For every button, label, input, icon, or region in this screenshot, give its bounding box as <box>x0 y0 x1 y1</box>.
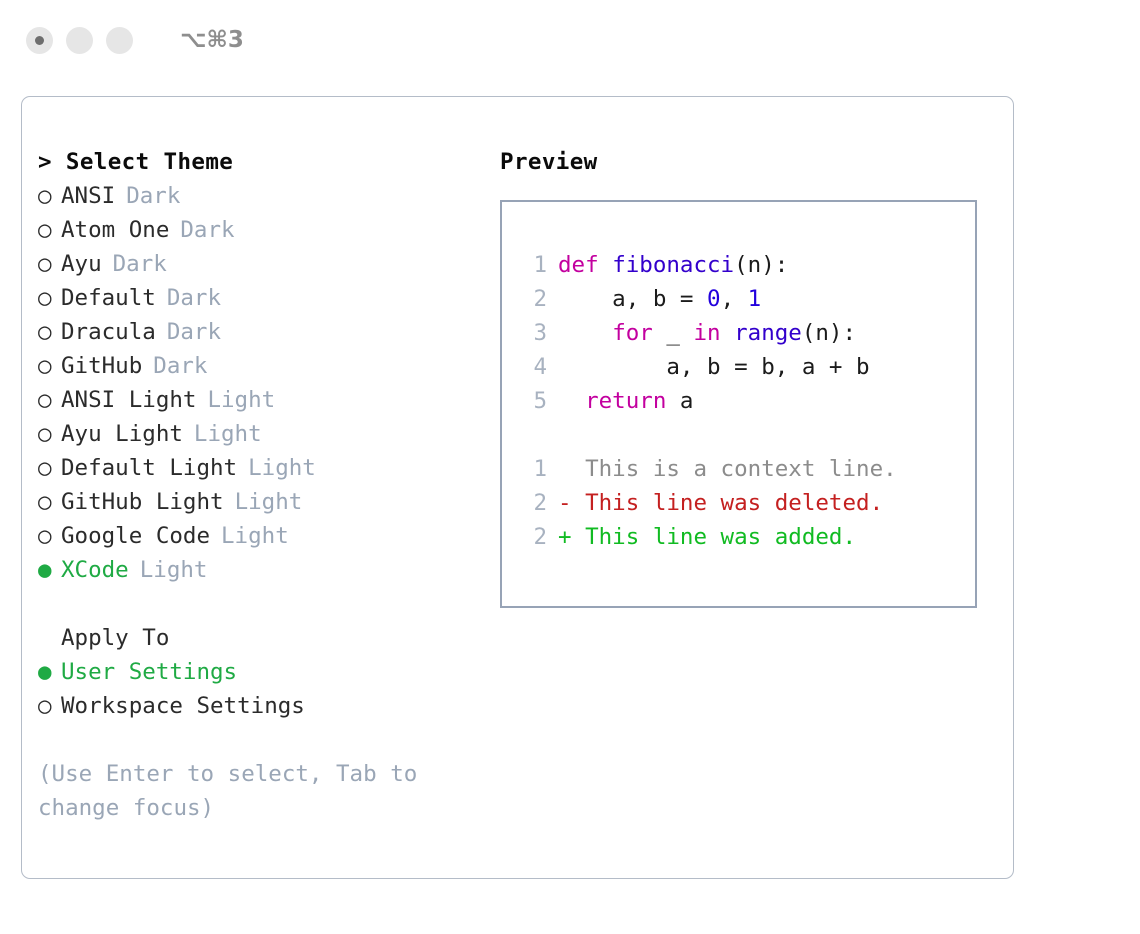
theme-item-ayu[interactable]: ○AyuDark <box>38 247 478 281</box>
code-diff-separator <box>502 418 975 452</box>
diff-line-text: This line was added. <box>585 524 856 550</box>
code-line-number: 3 <box>502 316 547 350</box>
code-line: 3 for _ in range(n): <box>502 316 975 350</box>
code-line-number: 5 <box>502 384 547 418</box>
radio-unselected-icon: ○ <box>38 213 61 247</box>
diff-line-ctx: 1 This is a context line. <box>502 452 975 486</box>
theme-item-variant: Dark <box>167 285 221 311</box>
code-token-kw: in <box>693 320 720 346</box>
code-line: 4 a, b = b, a + b <box>502 350 975 384</box>
radio-unselected-icon: ○ <box>38 281 61 315</box>
theme-item-label: XCode <box>61 557 129 583</box>
theme-item-default[interactable]: ○DefaultDark <box>38 281 478 315</box>
theme-item-github[interactable]: ○GitHubDark <box>38 349 478 383</box>
main-panel: > Select Theme ○ANSIDark○Atom OneDark○Ay… <box>21 96 1014 879</box>
window-dot-inner <box>35 36 44 45</box>
apply-to-list: ●User Settings○Workspace Settings <box>38 655 478 723</box>
code-line: 1def fibonacci(n): <box>502 248 975 282</box>
theme-item-variant: Light <box>140 557 208 583</box>
code-token-pl: (n): <box>802 320 856 346</box>
apply-to-header: Apply To <box>38 621 478 655</box>
radio-unselected-icon: ○ <box>38 451 61 485</box>
diff-line-text: This is a context line. <box>585 456 897 482</box>
code-token-pl: a, b = b, a + b <box>558 354 870 380</box>
code-line: 2 a, b = 0, 1 <box>502 282 975 316</box>
app-window: ⌥⌘3 > Select Theme ○ANSIDark○Atom OneDar… <box>0 0 1140 934</box>
code-line-number: 2 <box>502 282 547 316</box>
code-token-pl: , <box>721 286 748 312</box>
radio-unselected-icon: ○ <box>38 417 61 451</box>
code-token-pl: _ <box>653 320 694 346</box>
theme-item-label: Google Code <box>61 523 210 549</box>
code-line-number: 1 <box>502 248 547 282</box>
list-spacer <box>38 587 478 621</box>
code-token-fn: fibonacci <box>612 252 734 278</box>
theme-item-label: GitHub <box>61 353 142 379</box>
apply-to-item-workspace-settings[interactable]: ○Workspace Settings <box>38 689 478 723</box>
radio-unselected-icon: ○ <box>38 689 61 723</box>
radio-unselected-icon: ○ <box>38 519 61 553</box>
theme-item-variant: Light <box>207 387 275 413</box>
code-token-pl <box>558 388 585 414</box>
radio-selected-icon: ● <box>38 553 61 587</box>
theme-item-variant: Dark <box>180 217 234 243</box>
diff-line-text: This line was deleted. <box>585 490 883 516</box>
radio-unselected-icon: ○ <box>38 315 61 349</box>
theme-item-label: Ayu Light <box>61 421 183 447</box>
radio-unselected-icon: ○ <box>38 247 61 281</box>
diff-marker: - <box>558 490 585 516</box>
code-token-pl <box>558 320 612 346</box>
code-token-pl <box>721 320 735 346</box>
theme-item-variant: Dark <box>167 319 221 345</box>
theme-item-variant: Light <box>248 455 316 481</box>
theme-item-variant: Light <box>235 489 303 515</box>
code-token-pl <box>599 252 613 278</box>
radio-unselected-icon: ○ <box>38 383 61 417</box>
code-token-fn: range <box>734 320 802 346</box>
theme-item-dracula[interactable]: ○DraculaDark <box>38 315 478 349</box>
preview-box: 1def fibonacci(n):2 a, b = 0, 13 for _ i… <box>500 200 977 608</box>
diff-marker: + <box>558 524 585 550</box>
theme-item-ayu-light[interactable]: ○Ayu LightLight <box>38 417 478 451</box>
code-line: 5 return a <box>502 384 975 418</box>
theme-item-variant: Dark <box>113 251 167 277</box>
code-token-pl: a <box>666 388 693 414</box>
title-bar: ⌥⌘3 <box>0 0 1140 80</box>
code-token-pl: a, b = <box>558 286 707 312</box>
diff-line-del: 2- This line was deleted. <box>502 486 975 520</box>
code-token-kw: def <box>558 252 599 278</box>
theme-item-variant: Dark <box>126 183 180 209</box>
radio-unselected-icon: ○ <box>38 485 61 519</box>
window-dot-active[interactable] <box>26 27 53 54</box>
theme-selection-column: > Select Theme ○ANSIDark○Atom OneDark○Ay… <box>38 145 478 825</box>
theme-list: ○ANSIDark○Atom OneDark○AyuDark○DefaultDa… <box>38 179 478 587</box>
theme-item-label: Dracula <box>61 319 156 345</box>
theme-item-label: ANSI Light <box>61 387 196 413</box>
theme-item-label: Default <box>61 285 156 311</box>
preview-title: Preview <box>500 145 1000 179</box>
radio-unselected-icon: ○ <box>38 179 61 213</box>
theme-item-ansi-light[interactable]: ○ANSI LightLight <box>38 383 478 417</box>
code-preview: 1def fibonacci(n):2 a, b = 0, 13 for _ i… <box>502 248 975 554</box>
theme-item-atom-one[interactable]: ○Atom OneDark <box>38 213 478 247</box>
theme-item-label: Default Light <box>61 455 237 481</box>
radio-selected-icon: ● <box>38 655 61 689</box>
code-token-num: 0 <box>707 286 721 312</box>
window-controls <box>26 27 133 54</box>
code-token-pl: (n): <box>734 252 788 278</box>
theme-item-label: Ayu <box>61 251 102 277</box>
theme-item-default-light[interactable]: ○Default LightLight <box>38 451 478 485</box>
theme-item-label: GitHub Light <box>61 489 224 515</box>
preview-column: Preview 1def fibonacci(n):2 a, b = 0, 13… <box>500 145 1000 608</box>
code-token-kw: for <box>612 320 653 346</box>
diff-line-number: 1 <box>502 452 547 486</box>
window-dot-3[interactable] <box>106 27 133 54</box>
window-dot-2[interactable] <box>66 27 93 54</box>
keyboard-shortcut-label: ⌥⌘3 <box>180 27 244 53</box>
theme-item-google-code[interactable]: ○Google CodeLight <box>38 519 478 553</box>
apply-to-item-label: User Settings <box>61 659 237 685</box>
diff-line-number: 2 <box>502 520 547 554</box>
code-token-num: 1 <box>748 286 762 312</box>
theme-item-variant: Light <box>194 421 262 447</box>
theme-item-ansi[interactable]: ○ANSIDark <box>38 179 478 213</box>
select-theme-header: > Select Theme <box>38 145 478 179</box>
code-line-number: 4 <box>502 350 547 384</box>
theme-item-xcode[interactable]: ●XCodeLight <box>38 553 478 587</box>
apply-to-item-label: Workspace Settings <box>61 693 305 719</box>
theme-item-label: Atom One <box>61 217 169 243</box>
keyboard-hint-text: (Use Enter to select, Tab to change focu… <box>38 757 458 825</box>
theme-item-github-light[interactable]: ○GitHub LightLight <box>38 485 478 519</box>
theme-item-variant: Dark <box>153 353 207 379</box>
apply-to-item-user-settings[interactable]: ●User Settings <box>38 655 478 689</box>
diff-marker <box>558 456 585 482</box>
theme-item-variant: Light <box>221 523 289 549</box>
code-token-kw: return <box>585 388 666 414</box>
diff-line-number: 2 <box>502 486 547 520</box>
diff-line-add: 2+ This line was added. <box>502 520 975 554</box>
theme-item-label: ANSI <box>61 183 115 209</box>
radio-unselected-icon: ○ <box>38 349 61 383</box>
